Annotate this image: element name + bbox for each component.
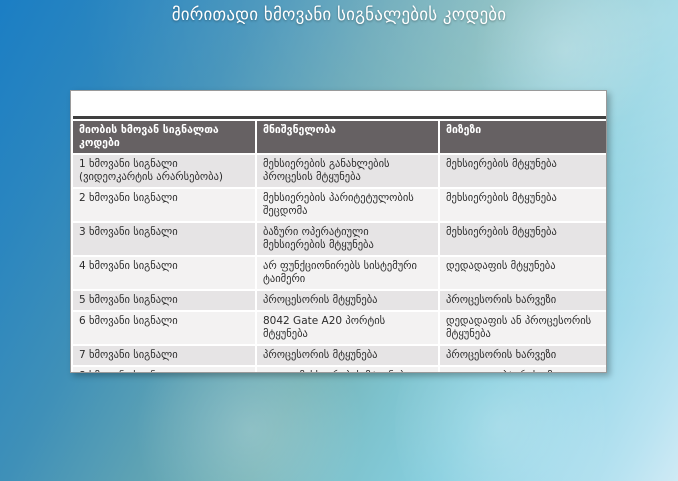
cell-meaning: პროცესორის მტყუნება (257, 346, 438, 365)
cell-code: 8 ხმოვანი სიგნალი (73, 367, 255, 373)
table-top-spacer-cell (73, 93, 607, 119)
column-header-meaning: მნიშვნელობა (257, 121, 438, 153)
table-row: 8 ხმოვანი სიგნალი ვიდეო მეხსიერების მტყუ… (73, 367, 607, 373)
table-head: მიობის ხმოვან სიგნალთა კოდები მნიშვნელობ… (73, 93, 607, 153)
cell-cause: პროცესორის ხარვეზი (440, 346, 607, 365)
cell-cause: პროცესორის ხარვეზი (440, 291, 607, 310)
cell-cause: დედადაფის მტყუნება (440, 257, 607, 289)
cell-code: 6 ხმოვანი სიგნალი (73, 312, 255, 344)
voice-signal-codes-table: მიობის ხმოვან სიგნალთა კოდები მნიშვნელობ… (71, 91, 607, 373)
column-header-code: მიობის ხმოვან სიგნალთა კოდები (73, 121, 255, 153)
cell-meaning: ბაზური ოპერატიული მეხსიერების მტყუნება (257, 223, 438, 255)
cell-code: 1 ხმოვანი სიგნალი (ვიდეოკარტის არარსებობ… (73, 155, 255, 187)
table-row: 3 ხმოვანი სიგნალი ბაზური ოპერატიული მეხს… (73, 223, 607, 255)
table-header-row: მიობის ხმოვან სიგნალთა კოდები მნიშვნელობ… (73, 121, 607, 153)
table-row: 4 ხმოვანი სიგნალი არ ფუნქციონირებს სისტე… (73, 257, 607, 289)
cell-cause: ვიდეო ადაპტერის ამ (440, 367, 607, 373)
slide-title: მირითადი ხმოვანი სიგნალების კოდები (0, 3, 678, 27)
cell-meaning: მეხსიერების განახლების პროცესის მტყუნება (257, 155, 438, 187)
table-row: 2 ხმოვანი სიგნალი მეხსიერების პარიტეტულო… (73, 189, 607, 221)
table-panel: მიობის ხმოვან სიგნალთა კოდები მნიშვნელობ… (70, 90, 607, 373)
cell-cause: მეხსიერების მტყუნება (440, 189, 607, 221)
cell-meaning: 8042 Gate A20 პორტის მტყუნება (257, 312, 438, 344)
cell-meaning: მეხსიერების პარიტეტულობის შეცდომა (257, 189, 438, 221)
table-row: 1 ხმოვანი სიგნალი (ვიდეოკარტის არარსებობ… (73, 155, 607, 187)
cell-meaning: პროცესორის მტყუნება (257, 291, 438, 310)
cell-code: 4 ხმოვანი სიგნალი (73, 257, 255, 289)
table-body: 1 ხმოვანი სიგნალი (ვიდეოკარტის არარსებობ… (73, 155, 607, 373)
cell-cause: მეხსიერების მტყუნება (440, 223, 607, 255)
cell-code: 7 ხმოვანი სიგნალი (73, 346, 255, 365)
cell-code: 5 ხმოვანი სიგნალი (73, 291, 255, 310)
cell-cause: მეხსიერების მტყუნება (440, 155, 607, 187)
cell-meaning: არ ფუნქციონირებს სისტემური ტაიმერი (257, 257, 438, 289)
cell-code: 2 ხმოვანი სიგნალი (73, 189, 255, 221)
table-top-spacer-row (73, 93, 607, 119)
cell-cause: დედადაფის ან პროცესორის მტყუნება (440, 312, 607, 344)
slide-canvas: მირითადი ხმოვანი სიგნალების კოდები მიობი… (0, 0, 678, 481)
table-row: 5 ხმოვანი სიგნალი პროცესორის მტყუნება პრ… (73, 291, 607, 310)
column-header-cause: მიზეზი (440, 121, 607, 153)
table-row: 7 ხმოვანი სიგნალი პროცესორის მტყუნება პრ… (73, 346, 607, 365)
cell-meaning: ვიდეო მეხსიერების მტყუნება (257, 367, 438, 373)
cell-code: 3 ხმოვანი სიგნალი (73, 223, 255, 255)
table-row: 6 ხმოვანი სიგნალი 8042 Gate A20 პორტის მ… (73, 312, 607, 344)
